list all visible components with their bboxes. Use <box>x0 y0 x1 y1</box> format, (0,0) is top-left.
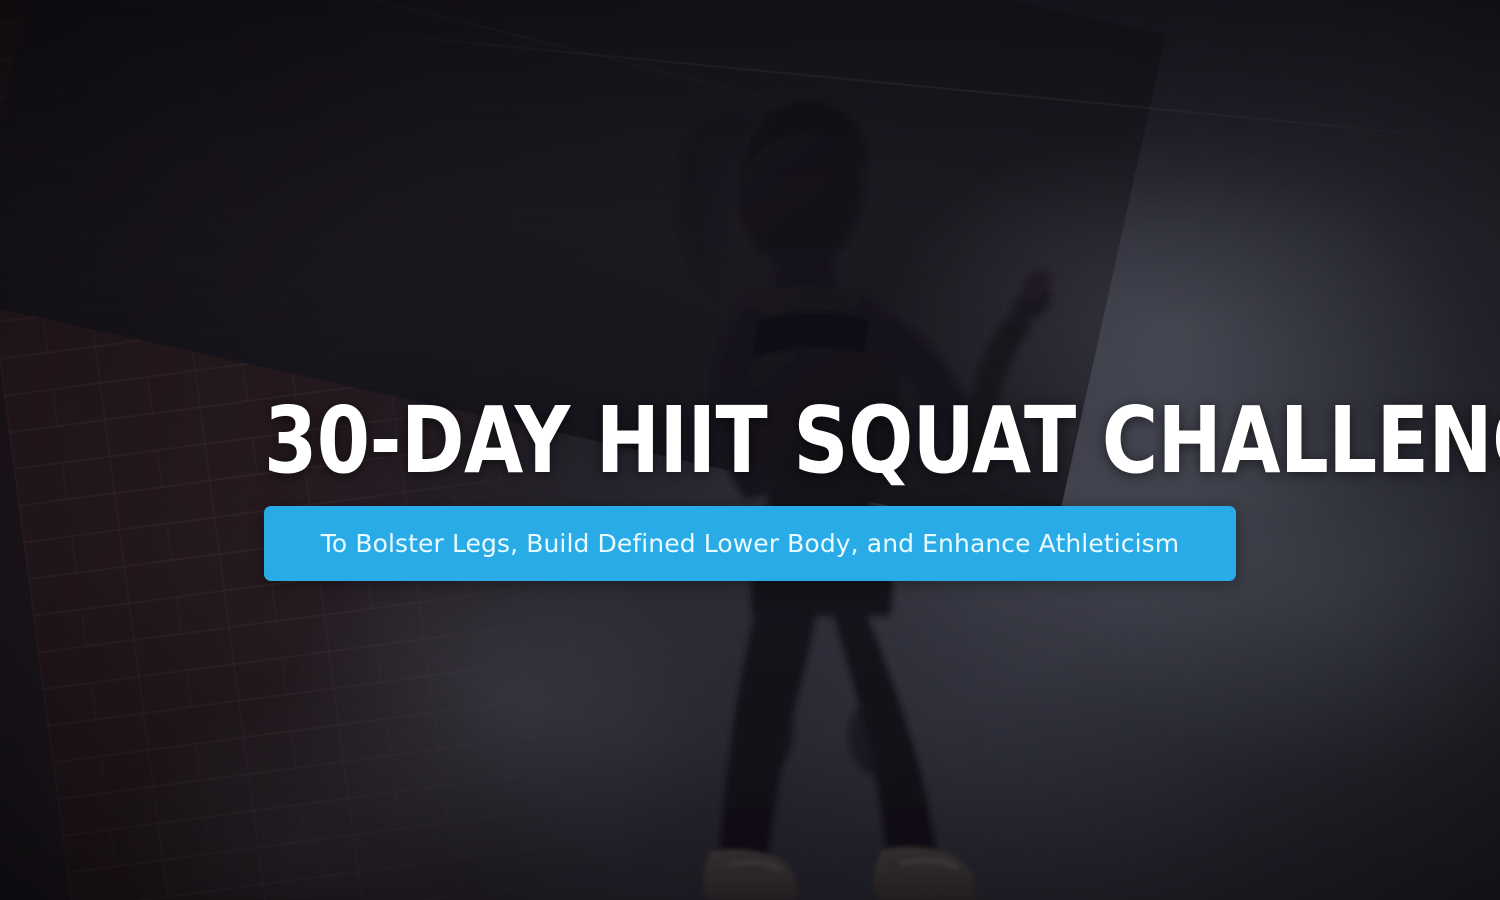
subtitle-text: To Bolster Legs, Build Defined Lower Bod… <box>321 529 1179 558</box>
hero-content: 30-Day HIIT Squat Challenge To Bolster L… <box>264 398 1236 581</box>
subtitle-banner-bar: To Bolster Legs, Build Defined Lower Bod… <box>264 506 1236 581</box>
hero-banner: 30-Day HIIT Squat Challenge To Bolster L… <box>0 0 1500 900</box>
page-title: 30-Day HIIT Squat Challenge <box>264 398 1163 484</box>
